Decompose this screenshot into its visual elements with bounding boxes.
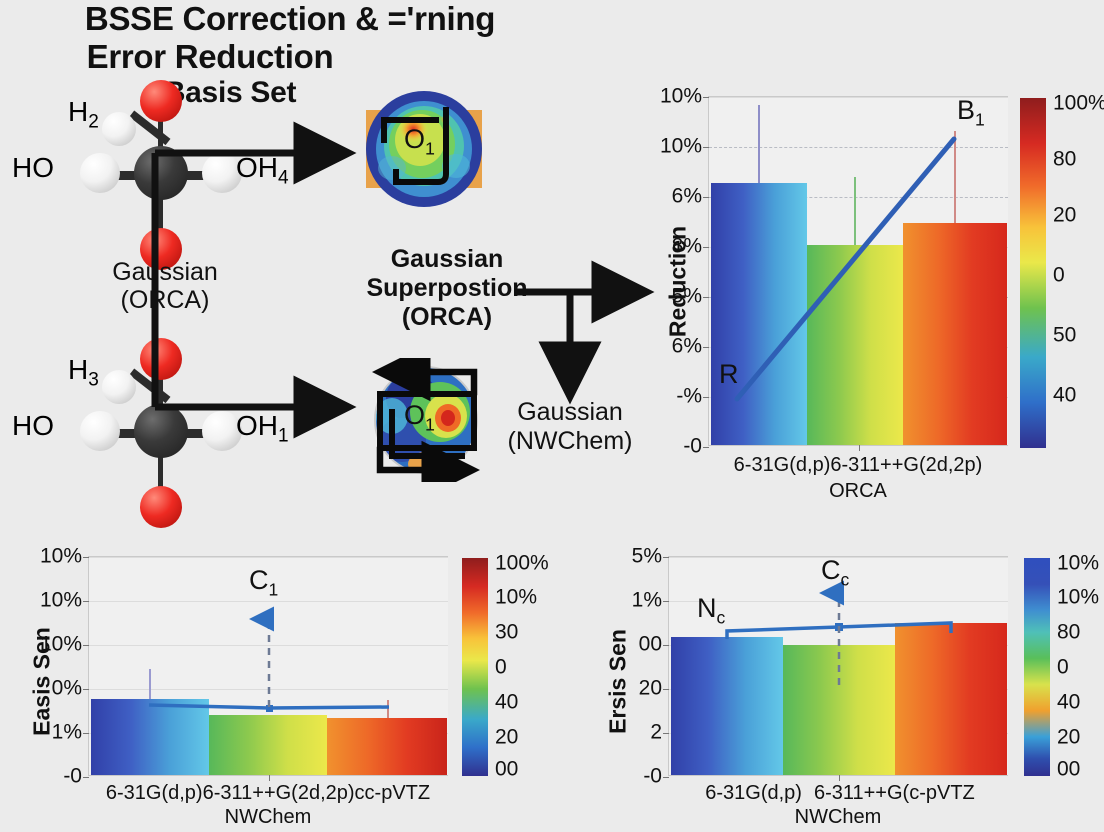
nwchem-line-2: (NWChem) — [480, 427, 660, 456]
colorbar-label-3: 0 — [495, 656, 507, 680]
colorbar-label-1: 10% — [1057, 586, 1099, 610]
error-reduction-x-labels: 6-31G(d,p) 6-311++G(2d,2p) — [688, 454, 1028, 477]
atom2-hydrogen-left — [80, 411, 120, 451]
basis-y-tick-1: 10% — [40, 589, 82, 613]
colorbar-label-3: 0 — [1053, 264, 1065, 288]
chart-nwchem-sensitivity: Ersis Sen 5% 1% 00 20 2 -0 — [580, 548, 1104, 832]
error-reduction-x-axis-title: ORCA — [708, 480, 1008, 503]
atom-hydrogen-left — [80, 153, 120, 193]
basis-y-tick-2: 10% — [40, 633, 82, 657]
page-title-bsse: BSSE Correction & ='rning — [0, 0, 580, 38]
error-y-tick-1: 10% — [660, 135, 702, 159]
atom-oxygen-top — [140, 80, 182, 122]
molecule-label-h3: H3 — [68, 354, 99, 392]
molecule-label-h2: H2 — [68, 96, 99, 134]
basis-y-tick-4: 1% — [52, 721, 82, 745]
colorbar-label-0: 10% — [1057, 552, 1099, 576]
colorbar-label-0: 100% — [495, 552, 549, 576]
orbital-label-bottom: O1 — [404, 400, 435, 435]
colorbar-label-6: 00 — [495, 758, 518, 782]
atom-hydrogen-upper — [102, 112, 136, 146]
nwchem-x-axis-title: NWChem — [668, 806, 1008, 829]
nwchem-y-tick-2: 00 — [639, 633, 662, 657]
flow-arrow-split — [150, 135, 360, 425]
x-label-group-1: 6-311++G(2d,2p) — [830, 454, 982, 477]
nwchem-y-tick-1: 1% — [632, 589, 662, 613]
error-reduction-colorbar: 100% 80 20 0 50 40 — [1020, 98, 1046, 448]
error-y-tick-6: -% — [676, 385, 702, 409]
basis-y-tick-3: 0% — [52, 677, 82, 701]
x-label-group-2: cc-pVTZ — [355, 782, 431, 805]
colorbar-label-0: 100% — [1053, 92, 1104, 116]
error-y-tick-5: 6% — [672, 335, 702, 359]
chart-basis-set: Easis Sen 10% 10% 10% 0% 1% -0 — [10, 548, 570, 832]
nwchem-y-tick-4: 2 — [650, 721, 662, 745]
colorbar-label-6: 00 — [1057, 758, 1080, 782]
annotation-arrow-C1: C1 — [249, 565, 278, 600]
chart-error-reduction: Reductien 10% 10% 6% 8% 5% 6% -% -0 — [640, 88, 1104, 488]
basis-set-x-labels: 6-31G(d,p) 6-311++G(2d,2p) cc-pVTZ — [68, 782, 468, 805]
colorbar-label-5: 20 — [495, 726, 518, 750]
nwchem-x-labels: 6-31G(d,p) 6-311++G( c-pVTZ — [650, 782, 1030, 805]
annotation-start-R: R — [719, 359, 739, 390]
x-label-group-0: 6-31G(d,p) — [734, 454, 831, 477]
error-reduction-plot-area: 10% 10% 6% 8% 5% 6% -% -0 R B1 — [708, 96, 1008, 446]
colorbar-label-4: 40 — [1057, 691, 1080, 715]
colorbar-label-5: 20 — [1057, 726, 1080, 750]
basis-y-tick-0: 10% — [40, 545, 82, 569]
atom2-hydrogen-upper — [102, 370, 136, 404]
colorbar-label-1: 80 — [1053, 148, 1076, 172]
error-reduction-trend-line — [709, 97, 1009, 447]
superposition-line-1: Gaussian — [332, 245, 562, 274]
colorbar-label-4: 50 — [1053, 324, 1076, 348]
nwchem-plot-area: 5% 1% 00 20 2 -0 Nc Cc — [668, 556, 1008, 776]
colorbar-label-2: 80 — [1057, 621, 1080, 645]
x-label-group-2: c-pVTZ — [909, 782, 975, 805]
annotation-arrow-Cc: Cc — [821, 555, 849, 590]
colorbar-label-2: 20 — [1053, 204, 1076, 228]
molecule-label-ho-left-2: HO — [12, 410, 54, 442]
x-label-group-0: 6-31G(d,p) — [705, 782, 802, 805]
flow-label-gaussian-nwchem: Gaussian (NWChem) — [480, 398, 660, 456]
nwchem-line-1: Gaussian — [480, 398, 660, 427]
basis-set-x-axis-title: NWChem — [88, 806, 448, 829]
colorbar-label-5: 40 — [1053, 384, 1076, 408]
error-y-tick-2: 6% — [672, 185, 702, 209]
orbital-label-top: O1 — [404, 124, 435, 159]
x-label-group-0: 6-31G(d,p) — [106, 782, 203, 805]
annotation-line-Nc: Nc — [697, 593, 725, 628]
nwchem-colorbar: 10% 10% 80 0 40 20 00 — [1024, 558, 1050, 776]
nwchem-y-tick-0: 5% — [632, 545, 662, 569]
error-y-tick-4: 5% — [672, 285, 702, 309]
atom2-oxygen-bottom — [140, 486, 182, 528]
colorbar-label-4: 40 — [495, 691, 518, 715]
annotation-end-B1: B1 — [957, 95, 985, 130]
error-y-tick-0: 10% — [660, 85, 702, 109]
colorbar-label-1: 10% — [495, 586, 537, 610]
colorbar-label-3: 0 — [1057, 656, 1069, 680]
colorbar-label-2: 30 — [495, 621, 518, 645]
nwchem-y-tick-3: 20 — [639, 677, 662, 701]
x-label-group-1: 6-311++G( — [814, 782, 909, 805]
flow-arrow-tee — [512, 280, 652, 400]
basis-set-colorbar: 100% 10% 30 0 40 20 00 — [462, 558, 488, 776]
basis-set-plot-area: 10% 10% 10% 0% 1% -0 C1 — [88, 556, 448, 776]
page-title-error-reduction: Error Reduction — [0, 38, 420, 76]
error-y-tick-3: 8% — [672, 235, 702, 259]
orbital-density-plot-top: O1 — [358, 88, 490, 210]
x-label-group-1: 6-311++G(2d,2p) — [203, 782, 355, 805]
molecule-label-ho-left: HO — [12, 152, 54, 184]
nwchem-y-axis-title: Ersis Sen — [605, 592, 632, 772]
